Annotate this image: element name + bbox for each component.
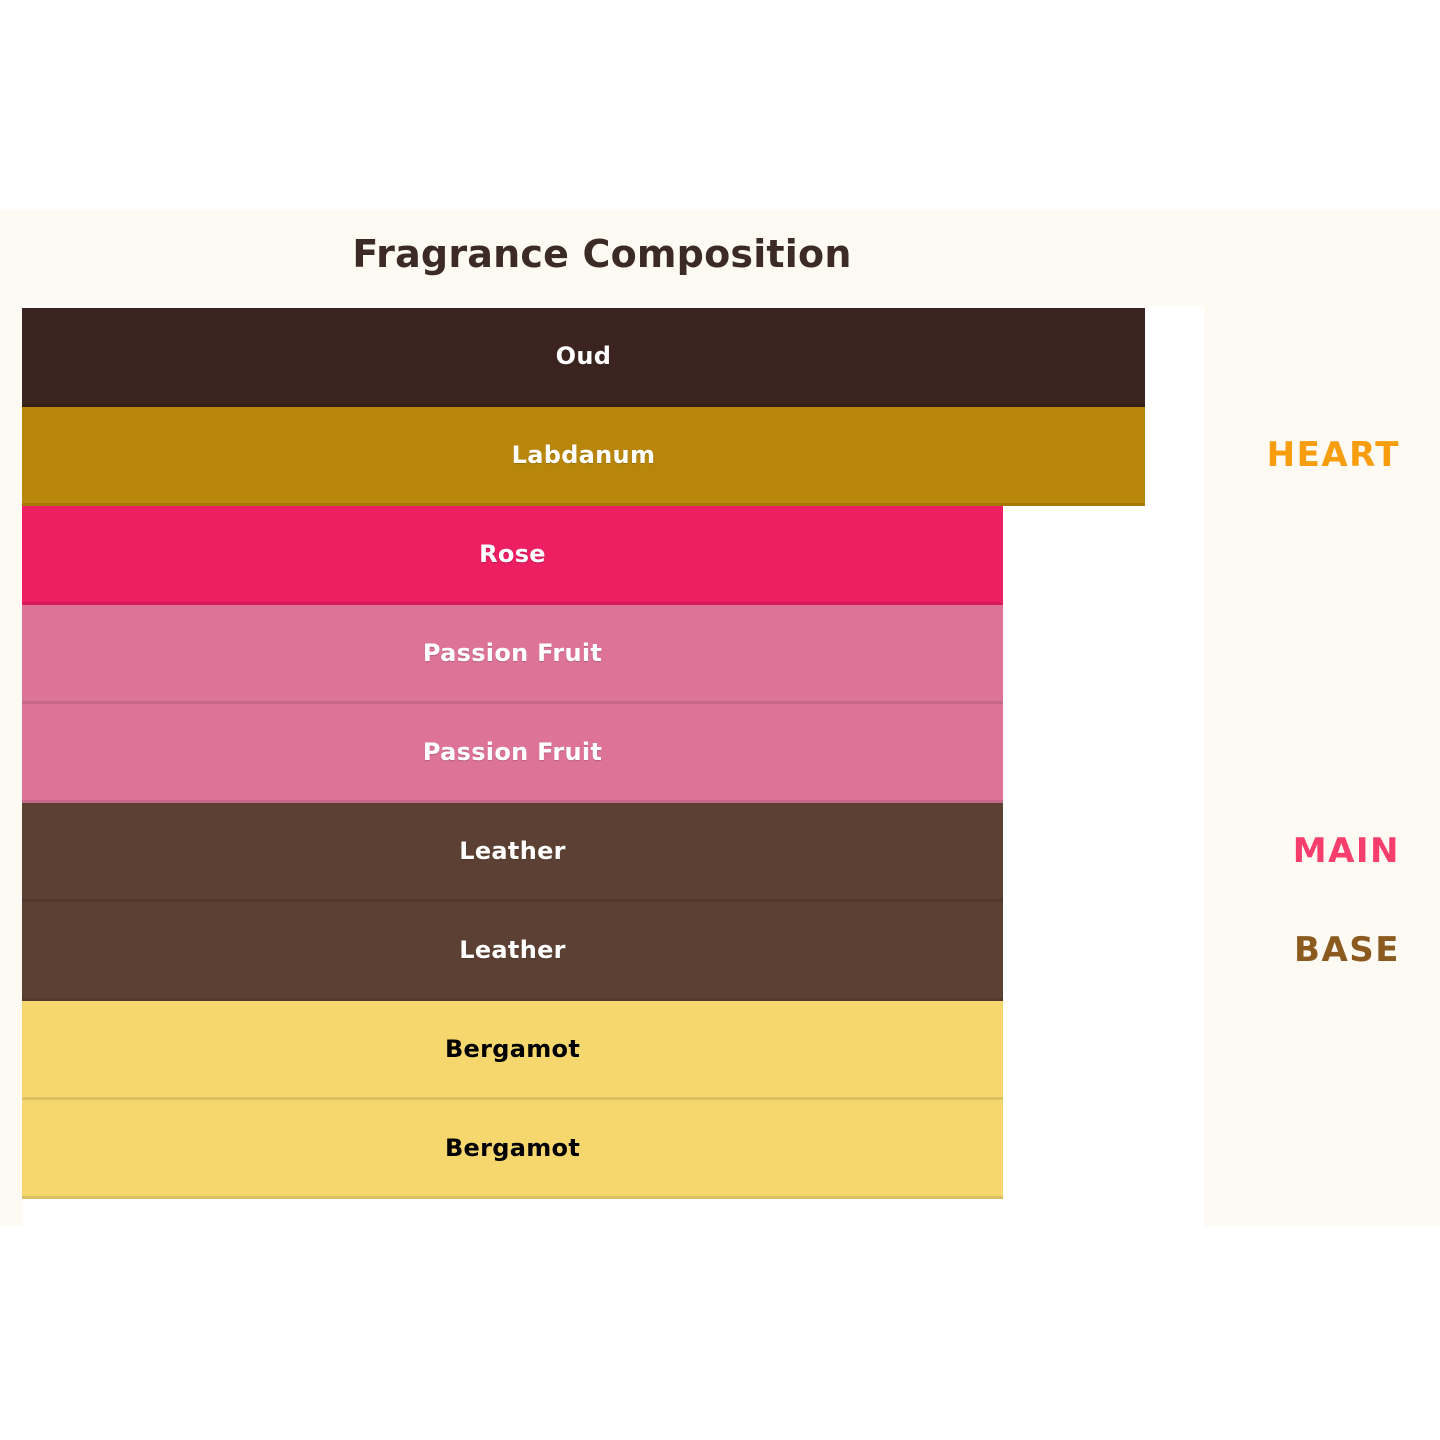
stage-label-main: MAIN (1293, 831, 1400, 871)
bar-row[interactable]: Bergamot (22, 1001, 1003, 1100)
bar-row[interactable]: Bergamot (22, 1100, 1003, 1199)
page-title: Fragrance Composition (0, 232, 1204, 276)
bar-row[interactable]: Passion Fruit (22, 704, 1003, 803)
bar-label: Leather (22, 837, 1003, 865)
bar-label: Leather (22, 936, 1003, 964)
bar-label: Rose (22, 540, 1003, 568)
figure-canvas: Fragrance Composition OudLabdanumRosePas… (0, 210, 1440, 1226)
bar-row[interactable]: Passion Fruit (22, 605, 1003, 704)
bar-row[interactable]: Leather (22, 902, 1003, 1001)
bar-label: Bergamot (22, 1035, 1003, 1063)
bar-label: Labdanum (22, 441, 1145, 469)
bar-label: Bergamot (22, 1134, 1003, 1162)
stage-label-base: BASE (1294, 930, 1400, 970)
bar-label: Passion Fruit (22, 738, 1003, 766)
bar-row[interactable]: Rose (22, 506, 1003, 605)
chart-root: Fragrance Composition OudLabdanumRosePas… (0, 0, 1440, 1440)
bar-row[interactable]: Oud (22, 308, 1145, 407)
bar-series: OudLabdanumRosePassion FruitPassion Frui… (22, 306, 1204, 1226)
bar-row[interactable]: Leather (22, 803, 1003, 902)
bar-row[interactable]: Labdanum (22, 407, 1145, 506)
bar-label: Oud (22, 342, 1145, 370)
stage-label-heart: HEART (1267, 435, 1400, 475)
bar-label: Passion Fruit (22, 639, 1003, 667)
